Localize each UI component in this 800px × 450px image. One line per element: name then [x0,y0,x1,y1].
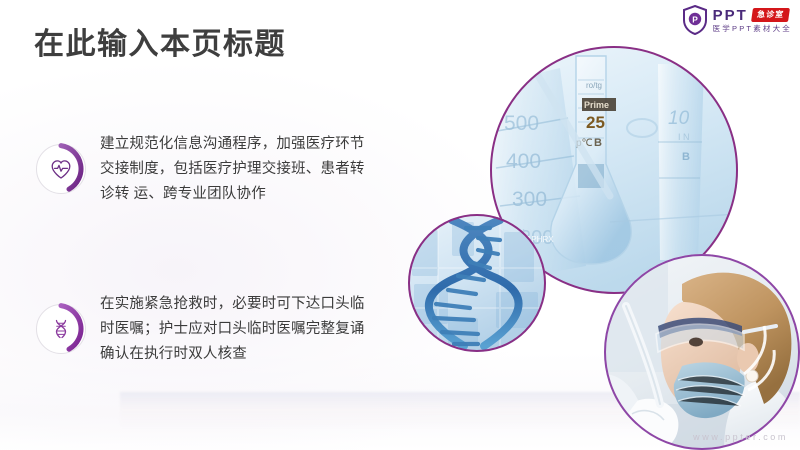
bullet-item-2: 在实施紧急抢救时，必要时可下达口头临时医嘱；护士应对口头临时医嘱完整复诵确认在执… [36,288,366,367]
svg-text:Prime: Prime [584,100,609,110]
dna-icon [36,304,86,354]
svg-text:25: 25 [586,113,605,132]
heart-pulse-icon [36,144,86,194]
brand-logo: P PPT 急诊室 医学PPT素材大全 [682,5,792,35]
dna-badge [36,304,86,354]
bullet-text-1: 建立规范化信息沟通程序，加强医疗环节交接制度，包括医疗护理交接班、患者转诊转 运… [100,128,366,207]
shield-icon: P [682,5,708,35]
svg-text:I N: I N [678,132,690,142]
brand-name: PPT [713,8,748,23]
svg-text:P: P [692,15,698,25]
dna-helix-photo [408,214,546,352]
svg-text:500: 500 [504,112,539,135]
scientist-photo [604,254,800,450]
brand-badge: 急诊室 [751,8,790,22]
svg-text:B: B [594,137,602,149]
brand-subtitle: 医学PPT素材大全 [713,25,792,33]
svg-text:300: 300 [512,188,547,211]
heart-pulse-badge [36,144,86,194]
svg-text:400: 400 [506,150,541,173]
scientist-image [604,254,800,450]
svg-text:10: 10 [668,108,690,129]
bullet-item-1: 建立规范化信息沟通程序，加强医疗环节交接制度，包括医疗护理交接班、患者转诊转 运… [36,128,366,207]
page-title: 在此输入本页标题 [34,19,286,63]
svg-text:B: B [682,151,690,163]
bullet-text-2: 在实施紧急抢救时，必要时可下达口头临时医嘱；护士应对口头临时医嘱完整复诵确认在执… [100,288,366,367]
footer-url: www.ppter.com [693,432,788,442]
svg-text:ro/tg: ro/tg [586,81,602,90]
dna-helix-image [408,214,546,352]
